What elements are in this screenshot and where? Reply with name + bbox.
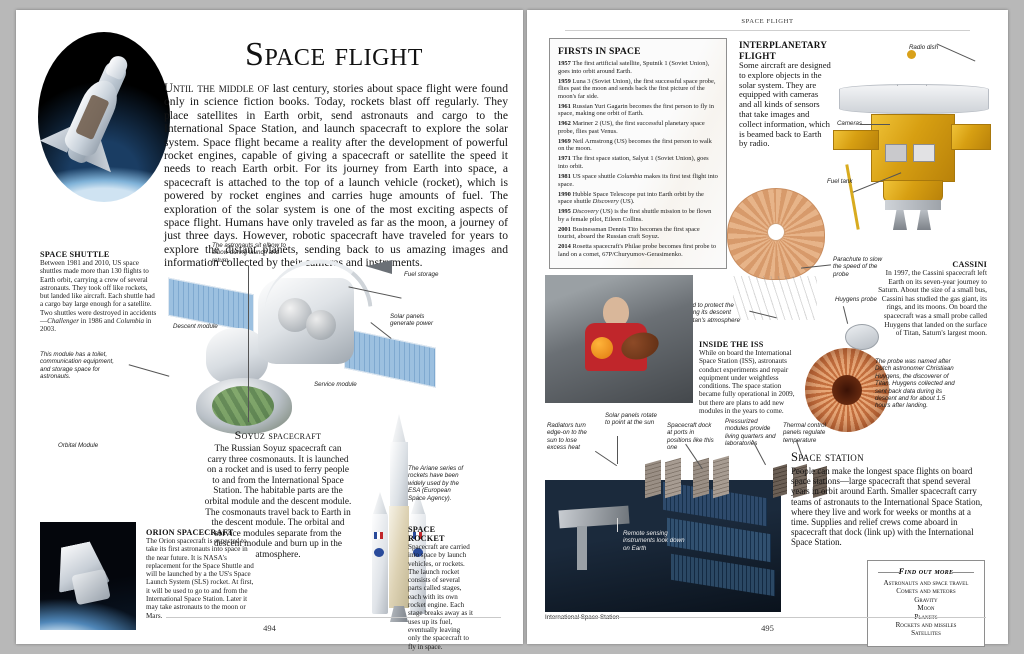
annotation-descent-module: Descent module	[173, 323, 221, 330]
space-rocket-heading: SPACE ROCKET	[408, 525, 474, 543]
soyuz-heading: Soyuz spacecraft	[204, 428, 352, 443]
find-out-more-box: Find out more Astronauts and space trave…	[867, 560, 985, 647]
leader-solar-rotate	[617, 436, 618, 464]
page-title: Space flight	[164, 36, 504, 74]
leader-cameras	[860, 124, 890, 125]
right-page: SPACE FLIGHT FIRSTS IN SPACE 1957 The fi…	[527, 10, 1008, 644]
firsts-heading: FIRSTS IN SPACE	[558, 46, 718, 57]
firsts-entry-italic: Columbia	[617, 173, 642, 180]
inside-iss-heading: INSIDE THE ISS	[699, 340, 803, 349]
folio-right: 495	[527, 623, 1008, 633]
leader-astronauts-sit	[248, 266, 249, 422]
iss-diagram-panel-5	[773, 464, 787, 498]
iss-diagram-panel-4	[713, 456, 729, 499]
rocket-booster-nose-left	[373, 492, 387, 514]
orion-heading: ORION SPACECRAFT	[146, 528, 254, 537]
huygens-probe-artwork	[845, 324, 879, 350]
orion-text-block: ORION SPACECRAFT The Orion spacecraft is…	[146, 528, 254, 620]
annotation-solar-rotate: Solar panels rotate to point at the sun	[605, 412, 659, 427]
firsts-entry-year: 1971	[558, 155, 572, 162]
space-shuttle-body: Between 1981 and 2010, US space shuttles…	[40, 259, 158, 334]
find-out-more-item[interactable]: Astronauts and space travel	[876, 579, 976, 587]
space-station-heading: Space station	[791, 450, 987, 465]
orion-service-module-artwork	[71, 569, 110, 605]
firsts-entry: 1961 Russian Yuri Gagarin becomes the fi…	[558, 103, 718, 118]
space-shuttle-photo	[38, 32, 170, 202]
firsts-entry-year: 1995	[558, 208, 572, 215]
shuttle-artwork	[50, 49, 145, 178]
cassini-text-block: CASSINI In 1997, the Cassini spacecraft …	[877, 260, 987, 338]
firsts-entry-italic: Discovery	[572, 208, 598, 215]
soyuz-antenna-dish	[366, 260, 392, 274]
firsts-entry-year: 1959	[558, 78, 572, 85]
firsts-entry: 1969 Neil Armstrong (US) becomes the fir…	[558, 138, 718, 153]
leader-remote-sensing	[617, 518, 618, 532]
cassini-adapter-ring	[885, 200, 941, 210]
rocket-flag-left	[374, 532, 383, 539]
firsts-entry: 1959 Luna 3 (Soviet Union), the first su…	[558, 78, 718, 101]
firsts-entry-year: 1957	[558, 60, 572, 67]
book-spread: Space flight Until the middle of last ce…	[0, 0, 1024, 654]
find-out-more-item[interactable]: Gravity	[876, 596, 976, 604]
astronaut-photo	[545, 275, 693, 403]
leader-toilet-module	[129, 364, 170, 377]
firsts-entry-year: 1990	[558, 191, 572, 198]
soyuz-orbital-detail	[212, 386, 274, 426]
annotation-radio-dish: Radio dish	[909, 44, 938, 51]
annotation-thermal-control: Thermal control panels regulate temperat…	[783, 422, 839, 444]
space-shuttle-heading: SPACE SHUTTLE	[40, 250, 158, 259]
firsts-entry-italic: Discovery	[593, 198, 619, 205]
annotation-toilet-module: This module has a toilet, communication …	[40, 351, 124, 381]
running-head: SPACE FLIGHT	[527, 18, 1008, 25]
iss-diagram-panel-2	[665, 458, 681, 499]
firsts-entry: 1971 The first space station, Salyut 1 (…	[558, 155, 718, 170]
interplanetary-text-block: INTERPLANETARY FLIGHT Some aircraft are …	[739, 40, 831, 149]
firsts-entry-year: 1961	[558, 103, 572, 110]
iss-diagram-panel-1	[645, 460, 661, 499]
soyuz-artwork	[166, 254, 436, 434]
soyuz-tank-b	[306, 310, 336, 340]
firsts-entry: 2001 Businessman Dennis Tito becomes the…	[558, 226, 718, 241]
space-station-text-block: Space station People can make the longes…	[791, 450, 987, 548]
page-title-text: Space flight	[245, 36, 423, 73]
iss-diagram-panel-3	[693, 458, 709, 499]
cassini-magnetometer-boom	[845, 164, 859, 230]
cassini-instrument-right	[951, 124, 991, 150]
leader-huygens-probe	[843, 306, 848, 324]
annotation-ariane-series: The Ariane series of rockets have been w…	[408, 465, 470, 502]
rocket-core-stage	[389, 506, 409, 608]
space-rocket-body: Spacecraft are carried into space by lau…	[408, 543, 474, 651]
firsts-entry: 1995 Discovery (US) is the first shuttle…	[558, 208, 718, 223]
orion-photo	[40, 522, 136, 630]
firsts-entry-year: 2014	[558, 243, 572, 250]
annotation-radiators: Radiators turn edge-on to the sun to los…	[547, 422, 595, 452]
inside-iss-body: While on board the International Space S…	[699, 349, 803, 415]
interplanetary-body: Some aircraft are designed to explore ob…	[739, 61, 831, 149]
left-page: Space flight Until the middle of last ce…	[16, 10, 523, 644]
right-foot-rule	[549, 617, 986, 618]
inside-iss-text-block: INSIDE THE ISS While on board the Intern…	[699, 340, 803, 415]
cassini-artwork	[827, 44, 995, 256]
firsts-entry-year: 1962	[558, 120, 572, 127]
annotation-huygens-probe: Huygens probe	[835, 296, 877, 303]
firsts-list: 1957 The first artificial satellite, Spu…	[558, 60, 718, 258]
firsts-entry-year: 2001	[558, 226, 572, 233]
annotation-probe-named: The probe was named after Dutch astronom…	[875, 358, 961, 410]
annotation-service-module: Service module	[314, 381, 360, 388]
cassini-boom-left	[833, 130, 879, 150]
firsts-entry: 2014 Rosetta spacecraft's Philae probe b…	[558, 243, 718, 258]
rocket-logo-left	[374, 548, 384, 557]
annotation-orbital-module: Orbital Module	[58, 442, 106, 449]
left-foot-rule	[166, 617, 501, 618]
rocket-fairing	[390, 442, 408, 508]
interplanetary-heading: INTERPLANETARY FLIGHT	[739, 40, 831, 61]
annotation-astronauts-sit: The astronauts sit elbow to elbow during…	[212, 242, 294, 264]
cassini-dish-mast	[897, 56, 927, 86]
annotation-fuel-storage: Fuel storage	[404, 271, 466, 278]
orange-ball	[591, 337, 613, 359]
cassini-radio-dish	[839, 84, 989, 114]
space-shuttle-caption: SPACE SHUTTLE Between 1981 and 2010, US …	[40, 250, 158, 334]
rocket-nose-cone	[392, 414, 406, 444]
cassini-camera-panel-b	[913, 144, 935, 162]
cassini-camera-panel-a	[885, 144, 907, 162]
firsts-in-space-box: FIRSTS IN SPACE 1957 The first artificia…	[549, 38, 727, 269]
find-out-more-item[interactable]: Moon	[876, 604, 976, 612]
cassini-lower-bus	[883, 180, 943, 202]
firsts-entry: 1957 The first artificial satellite, Spu…	[558, 60, 718, 75]
annotation-cameras: Cameras	[837, 120, 862, 127]
firsts-entry: 1981 US space shuttle Columbia makes its…	[558, 173, 718, 188]
intro-lead-in: Until the middle of	[164, 81, 269, 95]
annotation-fuel-tank: Fuel tank	[827, 178, 852, 185]
cassini-thruster-left	[893, 210, 907, 230]
annotation-spacecraft-dock: Spacecraft dock at ports in positions li…	[667, 422, 715, 452]
iss-truss	[558, 506, 629, 529]
iss-mast	[577, 526, 587, 570]
annotation-remote-sensing: Remote sensing instruments look down on …	[623, 530, 687, 552]
annotation-pressurized-modules: Pressurized modules provide living quart…	[725, 418, 777, 448]
rocket-engine-bell	[390, 606, 408, 622]
firsts-entry: 1990 Hubble Space Telescope put into Ear…	[558, 191, 718, 206]
running-head-rule	[565, 30, 970, 31]
find-out-more-title: Find out more	[876, 567, 976, 576]
cassini-body: In 1997, the Cassini spacecraft left Ear…	[877, 269, 987, 338]
rocket-booster-left	[372, 510, 388, 614]
annotation-solar-generate: Solar panels generate power	[390, 313, 450, 328]
cassini-thruster-right	[917, 210, 931, 230]
firsts-entry-year: 1981	[558, 173, 572, 180]
space-station-body: People can make the longest space flight…	[791, 466, 987, 548]
folio-left: 494	[16, 623, 523, 633]
find-out-more-item[interactable]: Comets and meteors	[876, 587, 976, 595]
firsts-entry-year: 1969	[558, 138, 572, 145]
orion-body: The Orion spacecraft is expected to take…	[146, 537, 254, 620]
firsts-entry: 1962 Mariner 2 (US), the first successfu…	[558, 120, 718, 135]
